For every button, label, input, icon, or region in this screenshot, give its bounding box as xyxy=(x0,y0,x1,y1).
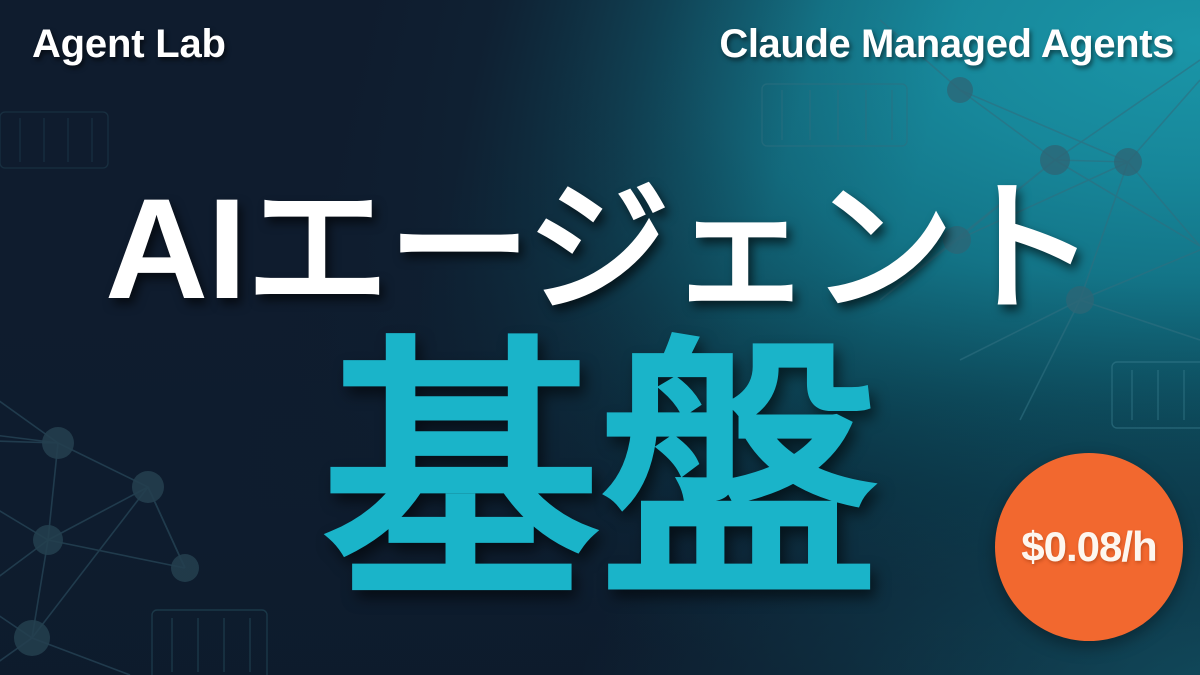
price-badge-label: $0.08/h xyxy=(1021,523,1156,571)
youtube-thumbnail: Agent Lab Claude Managed Agents AIエージェント… xyxy=(0,0,1200,675)
server-rack-bottom-left-icon xyxy=(0,112,108,168)
brand-label: Agent Lab xyxy=(32,22,226,67)
server-rack-top-right-icon xyxy=(762,84,907,146)
price-badge: $0.08/h xyxy=(995,453,1183,641)
headline-main: AIエージェント xyxy=(0,178,1200,321)
topic-label: Claude Managed Agents xyxy=(719,22,1174,67)
server-rack-mid-left-icon xyxy=(152,610,267,675)
